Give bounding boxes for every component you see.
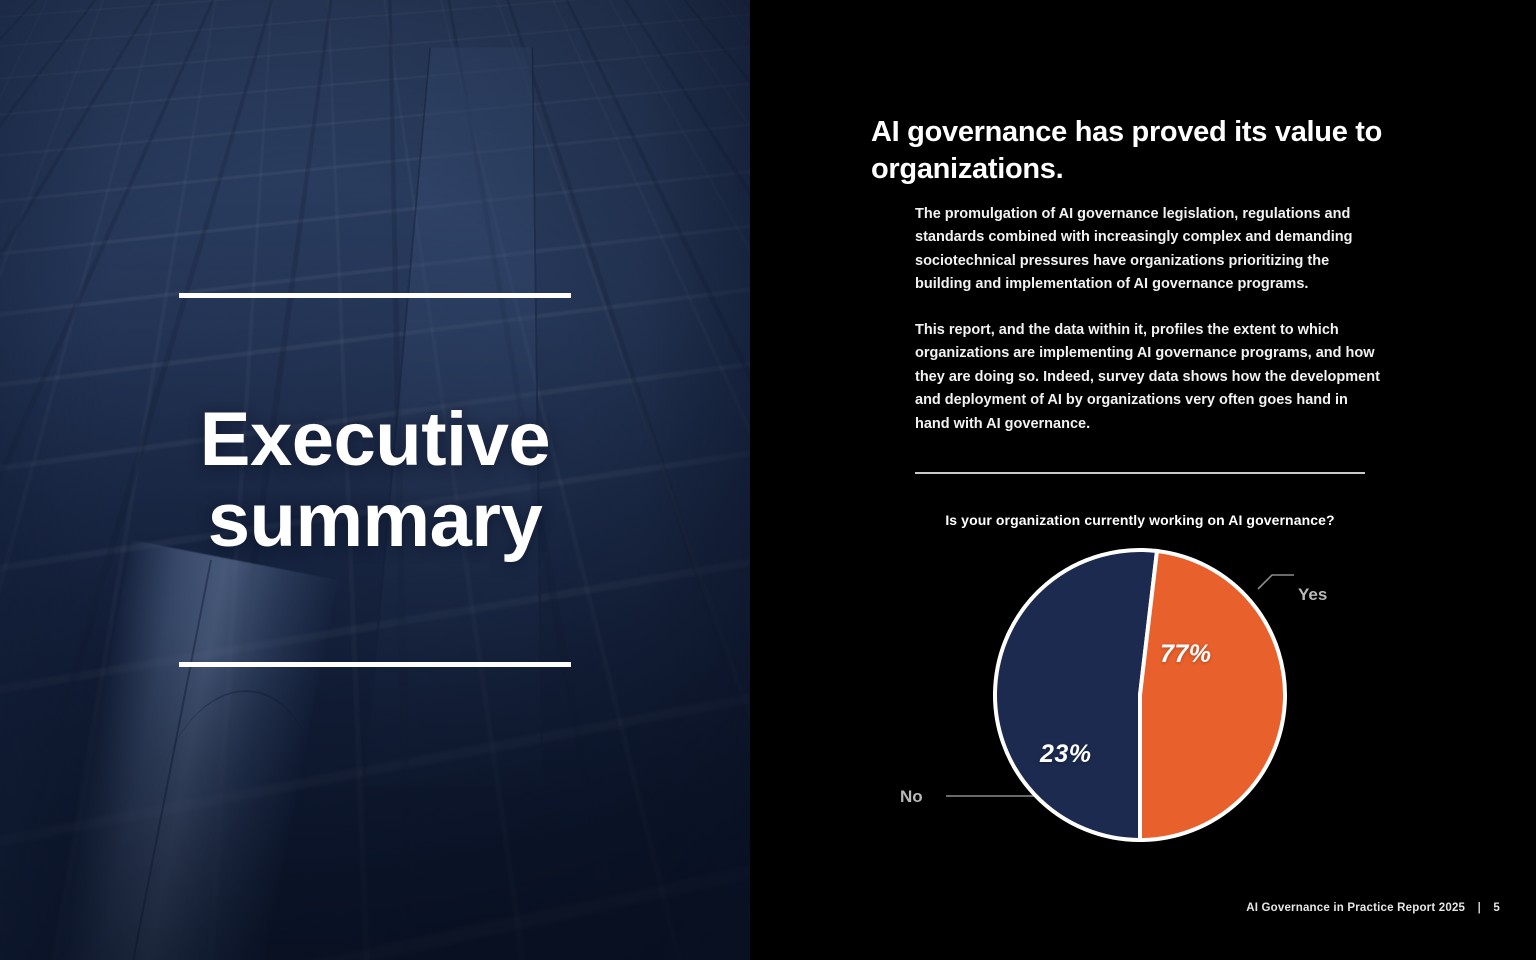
content-panel: AI governance has proved its value to or… (750, 0, 1536, 960)
body-paragraph-1: The promulgation of AI governance legisl… (915, 203, 1380, 297)
cover-title: Executive summary (95, 400, 655, 561)
pie-value-no: 23% (1040, 740, 1092, 769)
footer-report-title: AI Governance in Practice Report 2025 (1246, 902, 1465, 914)
pie-value-yes: 77% (1160, 640, 1212, 669)
pie-legend-yes: Yes (1298, 585, 1327, 605)
body-copy: The promulgation of AI governance legisl… (915, 203, 1380, 436)
pie-slice-no[interactable] (1140, 551, 1285, 840)
footer-page-number: 5 (1493, 902, 1500, 914)
cover-panel: Executive summary (0, 0, 750, 960)
pie-chart: 77% 23% Yes No (870, 540, 1530, 860)
cover-rule-top (179, 293, 571, 298)
page-footer: AI Governance in Practice Report 2025 | … (750, 902, 1536, 914)
cover-title-block: Executive summary (0, 0, 750, 960)
page-title: AI governance has proved its value to or… (871, 114, 1391, 188)
chart-question-label: Is your organization currently working o… (915, 512, 1365, 528)
leader-line-yes (1258, 575, 1294, 589)
footer-separator: | (1469, 902, 1490, 914)
cover-rule-bottom (179, 662, 571, 667)
body-paragraph-2: This report, and the data within it, pro… (915, 319, 1380, 436)
cover-title-line-2: summary (95, 481, 655, 562)
pie-chart-svg (870, 540, 1530, 860)
cover-title-line-1: Executive (200, 397, 550, 482)
section-divider (915, 472, 1365, 474)
pie-legend-no: No (900, 787, 923, 807)
report-page: Executive summary AI governance has prov… (0, 0, 1536, 960)
